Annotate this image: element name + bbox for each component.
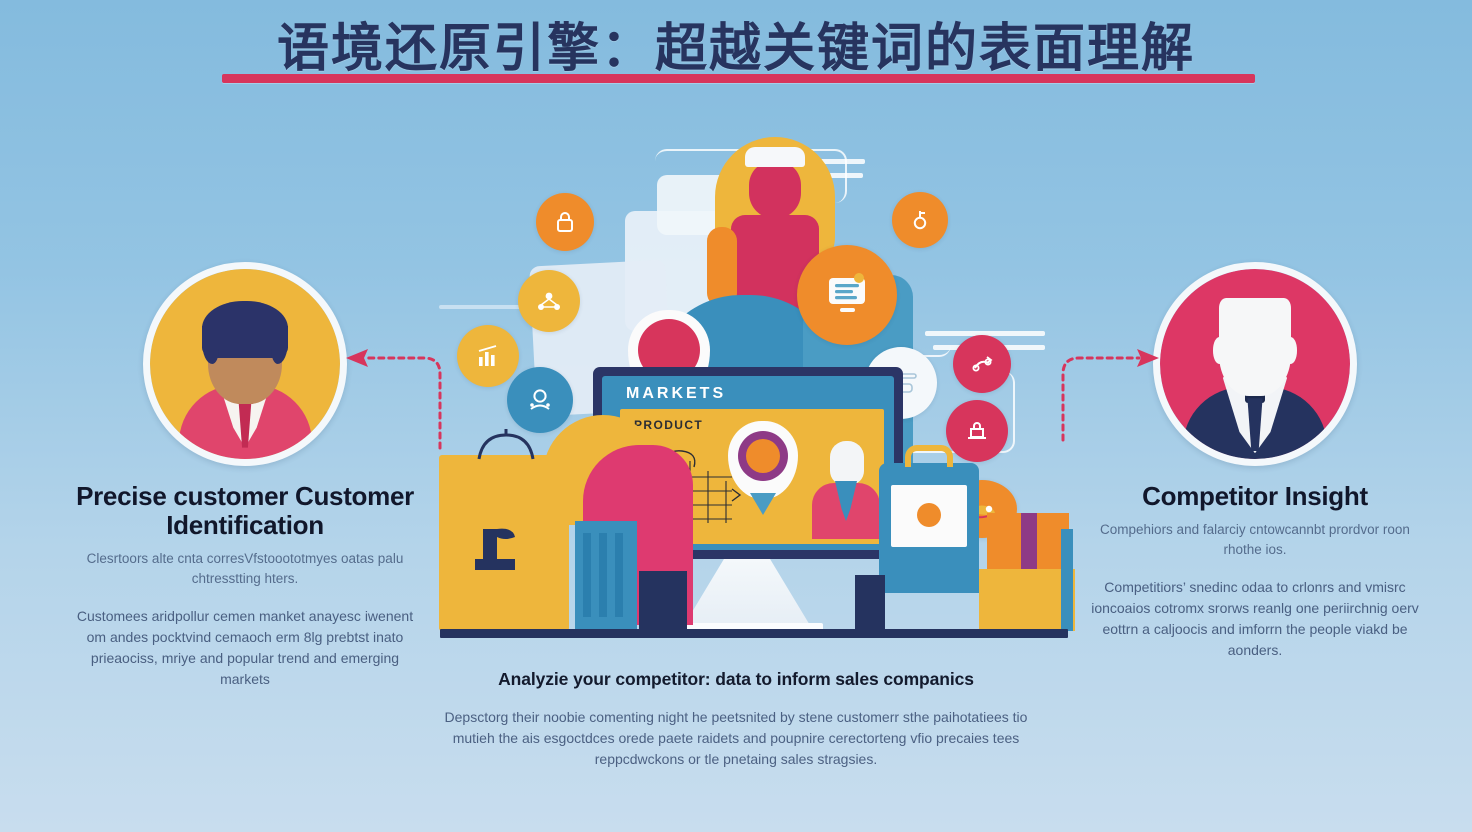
- briefcase-handle: [905, 445, 953, 467]
- badge-key-icon: [892, 192, 948, 248]
- monitor-stand: [683, 559, 811, 627]
- chef-hat: [745, 147, 805, 167]
- title-underline: [222, 74, 1255, 83]
- monitor-map-pin-tip: [750, 493, 776, 515]
- panel-left-subtext: Clesrtoors alte cnta corresVfstooototmye…: [75, 549, 415, 590]
- avatar-artwork-left: [150, 269, 340, 459]
- badge-analytics-icon: [507, 367, 573, 433]
- monitor-label-product: PRODUCT: [634, 418, 703, 432]
- monitor-title-markets: MARKETS: [626, 385, 726, 403]
- page-title: 语境还原引擎：超越关键词的表面理解: [0, 20, 1472, 80]
- panel-customer-identification: Precise customer Customer Identification…: [75, 262, 415, 690]
- monitor-map-pin-core: [746, 439, 780, 473]
- chef-face: [749, 161, 801, 219]
- navy-skyline-right: [855, 575, 885, 631]
- panel-left-body: Customees aridpollur cemen manket anayes…: [75, 606, 415, 690]
- shopping-bag-logo-icon: [473, 523, 535, 577]
- teal-building-left-windows: [583, 533, 629, 617]
- caption-body: Depsctorg their noobie comenting night h…: [436, 707, 1036, 770]
- caption-heading: Analyzie your competitor: data to inform…: [436, 668, 1036, 691]
- shopping-bag-handle-icon: [471, 427, 541, 461]
- badge-chart-icon: [457, 325, 519, 387]
- bottom-caption-block: Analyzie your competitor: data to inform…: [436, 668, 1036, 770]
- teal-building-right: [1061, 529, 1073, 631]
- infographic-page: 语境还原引擎：超越关键词的表面理解 Precise customer Custo…: [0, 0, 1472, 832]
- badge-monitor-icon: [797, 245, 897, 345]
- title-block: 语境还原引擎：超越关键词的表面理解: [0, 20, 1472, 80]
- panel-competitor-insight: Competitor Insight Compehiors and falarc…: [1085, 262, 1425, 661]
- avatar-customer: [143, 262, 347, 466]
- panel-right-heading: Competitor Insight: [1085, 482, 1425, 511]
- avatar-competitor: [1153, 262, 1357, 466]
- panel-left-heading: Precise customer Customer Identification: [75, 482, 415, 540]
- badge-gear-icon: [953, 335, 1011, 393]
- monitor-figure-head: [830, 441, 864, 485]
- briefcase-screen-dot: [917, 503, 941, 527]
- panel-right-subtext: Compehiors and falarciy cntowcannbt pror…: [1085, 520, 1425, 561]
- cardboard-box-upper-tape: [1021, 513, 1037, 569]
- avatar-artwork-right: [1160, 269, 1350, 459]
- panel-right-body: Competitiors’ snedinc odaa to crlonrs an…: [1085, 577, 1425, 661]
- badge-lock-icon: [536, 193, 594, 251]
- central-illustration: MARKETS PRODUCT Brand: [425, 135, 1085, 635]
- badge-network-icon: [518, 270, 580, 332]
- ground-baseline: [440, 629, 1068, 638]
- badge-bag-icon: [946, 400, 1008, 462]
- navy-skyline-left: [639, 571, 687, 631]
